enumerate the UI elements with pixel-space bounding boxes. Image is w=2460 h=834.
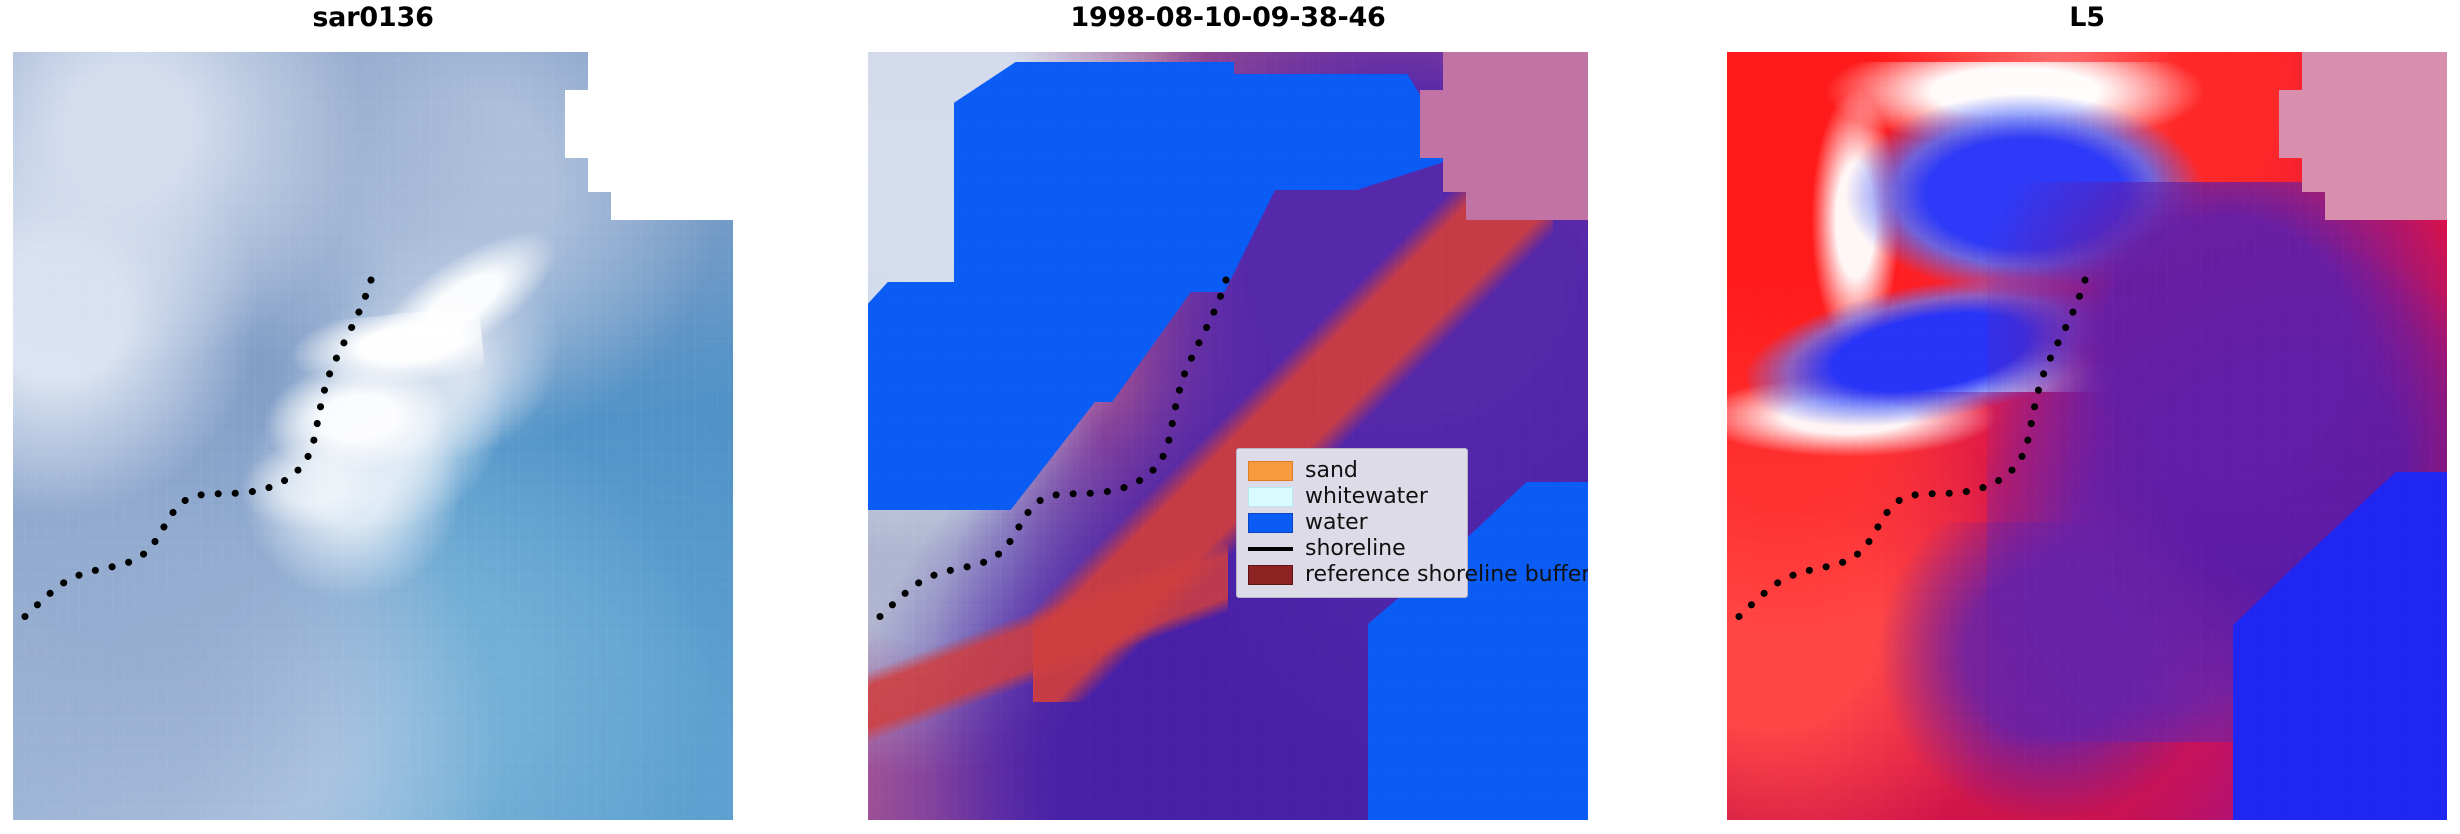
panel-title-sar: sar0136: [13, 2, 733, 33]
l5-shoreline-dotted: [1727, 52, 2447, 820]
legend-label-shoreline: shoreline: [1305, 538, 1406, 560]
shoreline-path: [21, 280, 371, 620]
panel-title-l5: L5: [1727, 2, 2447, 33]
legend-row-whitewater: whitewater: [1248, 484, 1455, 510]
panel-sar: sar0136: [13, 0, 733, 834]
l5-image-axes: [1727, 52, 2447, 820]
water-swatch-icon: [1248, 513, 1293, 533]
panel-title-classification: 1998-08-10-09-38-46: [868, 2, 1588, 33]
classification-image-axes: sand whitewater water shoreline referenc…: [868, 52, 1588, 820]
legend-label-whitewater: whitewater: [1305, 486, 1428, 508]
figure-canvas: sar0136 1998-08-10-09-38-46: [0, 0, 2460, 834]
shoreline-line-icon: [1248, 547, 1293, 551]
legend-row-sand: sand: [1248, 458, 1455, 484]
panel-classification: 1998-08-10-09-38-46: [868, 0, 1588, 834]
classification-shoreline-dotted: [868, 52, 1588, 820]
legend-row-reference-buffer: reference shoreline buffer: [1248, 562, 1455, 588]
legend-label-reference-buffer: reference shoreline buffer: [1305, 564, 1588, 586]
sar-shoreline-dotted: [13, 52, 733, 820]
map-legend: sand whitewater water shoreline referenc…: [1236, 448, 1468, 598]
shoreline-path: [1735, 280, 2085, 620]
shoreline-path: [876, 280, 1226, 620]
sand-swatch-icon: [1248, 461, 1293, 481]
legend-label-water: water: [1305, 512, 1368, 534]
legend-row-water: water: [1248, 510, 1455, 536]
legend-label-sand: sand: [1305, 460, 1358, 482]
whitewater-swatch-icon: [1248, 487, 1293, 507]
panel-l5: L5: [1727, 0, 2447, 834]
sar-image-axes: [13, 52, 733, 820]
reference-buffer-swatch-icon: [1248, 565, 1293, 585]
legend-row-shoreline: shoreline: [1248, 536, 1455, 562]
